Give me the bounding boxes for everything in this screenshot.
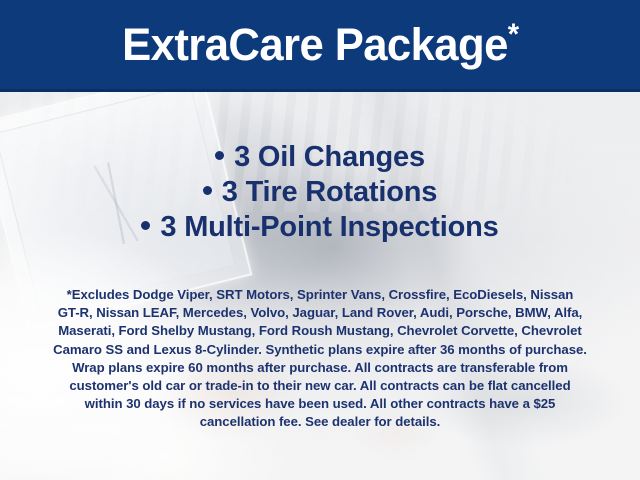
list-item: 3 Oil Changes bbox=[0, 140, 640, 175]
disclaimer-line: customer's old car or trade-in to their … bbox=[26, 377, 614, 395]
bullet-icon bbox=[141, 221, 150, 230]
bullet-icon bbox=[215, 151, 224, 160]
feature-label: 3 Tire Rotations bbox=[222, 176, 437, 208]
page-title-text: ExtraCare Package bbox=[122, 19, 508, 70]
disclaimer-line: cancellation fee. See dealer for details… bbox=[26, 413, 614, 431]
list-item: 3 Multi-Point Inspections bbox=[0, 210, 640, 245]
feature-list: 3 Oil Changes 3 Tire Rotations 3 Multi-P… bbox=[0, 140, 640, 245]
bullet-icon bbox=[203, 186, 212, 195]
page-title: ExtraCare Package* bbox=[122, 22, 518, 67]
feature-label: 3 Multi-Point Inspections bbox=[160, 211, 498, 243]
header-banner: ExtraCare Package* bbox=[0, 0, 640, 92]
disclaimer-line: within 30 days if no services have been … bbox=[26, 395, 614, 413]
page-title-asterisk: * bbox=[507, 18, 518, 51]
list-item: 3 Tire Rotations bbox=[0, 175, 640, 210]
extracare-package-promo-banner: ExtraCare Package* 3 Oil Changes 3 Tire … bbox=[0, 0, 640, 480]
disclaimer-text: *Excludes Dodge Viper, SRT Motors, Sprin… bbox=[26, 286, 614, 432]
feature-label: 3 Oil Changes bbox=[234, 141, 425, 173]
disclaimer-line: *Excludes Dodge Viper, SRT Motors, Sprin… bbox=[26, 286, 614, 304]
disclaimer-line: GT-R, Nissan LEAF, Mercedes, Volvo, Jagu… bbox=[26, 304, 614, 322]
disclaimer-line: Maserati, Ford Shelby Mustang, Ford Rous… bbox=[26, 322, 614, 340]
disclaimer-line: Wrap plans expire 60 months after purcha… bbox=[26, 359, 614, 377]
disclaimer-line: Camaro SS and Lexus 8-Cylinder. Syntheti… bbox=[26, 341, 614, 359]
